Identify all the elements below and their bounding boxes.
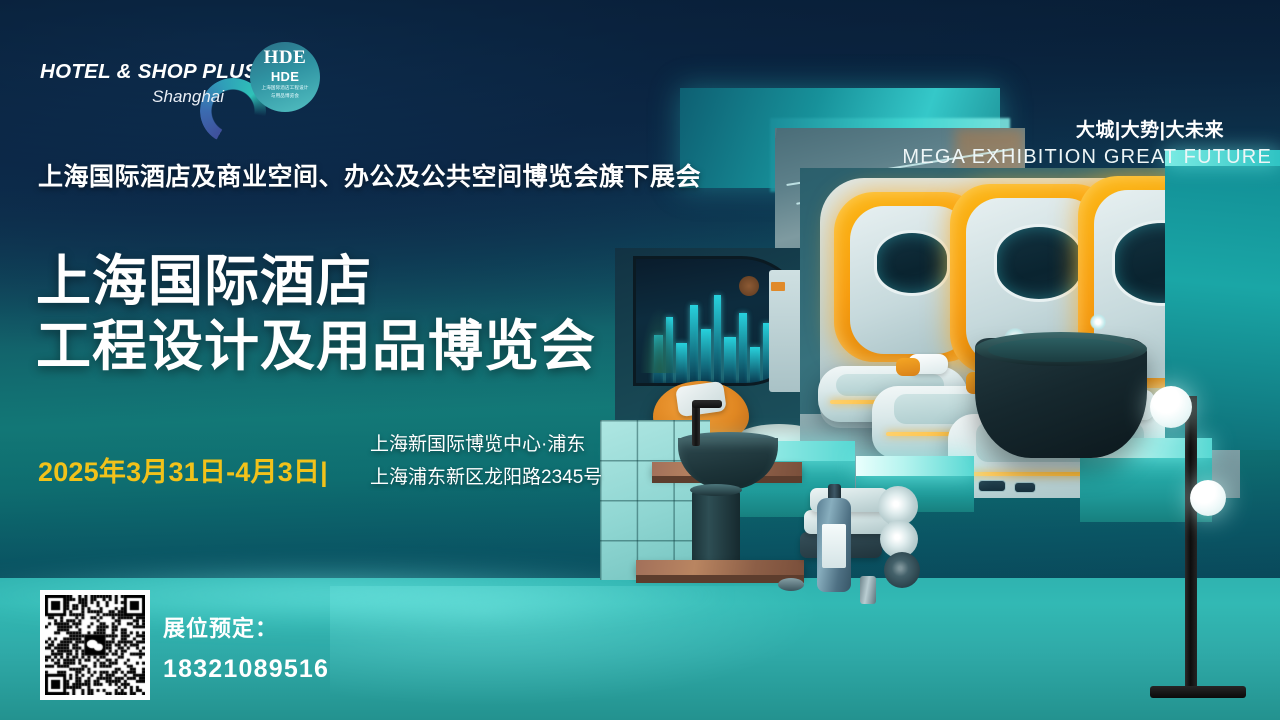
wall-clock-icon	[739, 276, 759, 296]
hde-sans-mark: HDE	[250, 70, 320, 83]
venue-info: 上海新国际博览中心·浦东 上海浦东新区龙阳路2345号	[370, 428, 602, 495]
brand-city: Shanghai	[40, 87, 250, 107]
hde-badge[interactable]: HDE HDE 上海国际酒店工程设计 与用品博览会	[250, 42, 320, 112]
title-line-2: 工程设计及用品博览会	[36, 314, 596, 379]
event-date: 2025年3月31日-4月3日|	[38, 450, 328, 489]
hde-cn-line1: 上海国际酒店工程设计	[250, 85, 320, 91]
brand-name: HOTEL & SHOP PLUS	[40, 60, 250, 84]
booking-label: 展位预定：	[163, 611, 329, 643]
lamp-globe-lower	[1190, 480, 1226, 516]
venue-line-2: 上海浦东新区龙阳路2345号	[370, 461, 602, 494]
hde-cn-line2: 与用品博览会	[250, 93, 320, 99]
venue-line-1: 上海新国际博览中心·浦东	[370, 428, 602, 461]
soap-puck	[778, 578, 804, 591]
plinth-mid-top	[856, 456, 974, 476]
slogan-chinese: 大城|大势|大未来	[0, 115, 1268, 142]
floor-lamp-base	[1150, 686, 1246, 698]
brand-logo-text: HOTEL & SHOP PLUS Shanghai	[40, 60, 250, 107]
faucet-spout	[692, 400, 722, 408]
bottle-label	[822, 524, 846, 568]
title-line-1: 上海国际酒店	[36, 249, 596, 314]
hotel-scene-collage	[560, 0, 1280, 720]
towel-roll-3	[884, 552, 920, 588]
slogan-english: MEGA EXHIBITION GREAT FUTURE	[0, 146, 1280, 169]
booking-block: 展位预定： 18321089516	[163, 611, 329, 684]
vanity-lower-shelf	[636, 560, 804, 575]
amenity-jar	[860, 576, 876, 604]
page-title: 上海国际酒店 工程设计及用品博览会	[36, 249, 596, 379]
hde-serif-mark: HDE	[250, 42, 320, 67]
faucet-stem	[692, 402, 700, 446]
exhibition-poster: HOTEL & SHOP PLUS Shanghai HDE HDE 上海国际酒…	[0, 0, 1280, 720]
bathtub-interior	[988, 338, 1134, 362]
booking-phone[interactable]: 18321089516	[163, 655, 329, 684]
floor-lamp-post	[1185, 396, 1197, 696]
vanity-pedestal	[692, 490, 740, 564]
wechat-qr-code[interactable]	[40, 590, 150, 700]
lamp-globe-upper	[1150, 386, 1192, 428]
